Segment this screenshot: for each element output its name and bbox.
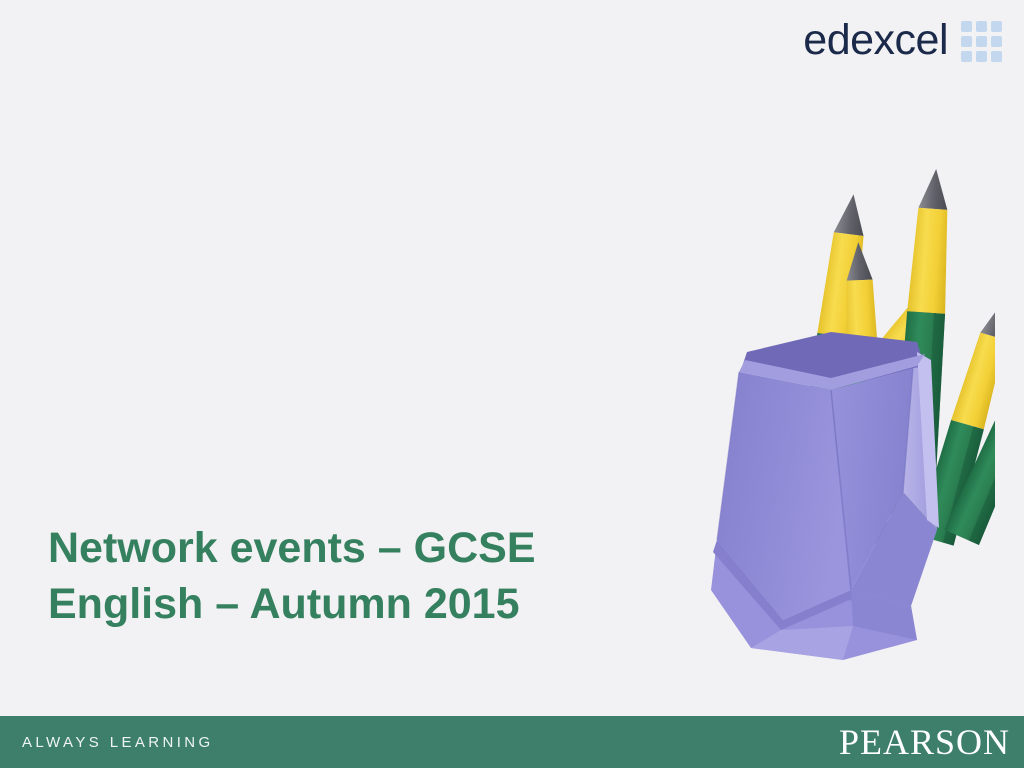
edexcel-logo: edexcel	[803, 18, 1002, 62]
always-learning-tagline: ALWAYS LEARNING	[22, 734, 214, 751]
grid-cell	[976, 21, 987, 32]
pearson-logo: PEARSON	[839, 724, 1010, 760]
grid-cell	[991, 36, 1002, 47]
grid-cell	[976, 51, 987, 62]
grid-cell	[961, 51, 972, 62]
grid-cell	[961, 21, 972, 32]
grid-cell	[991, 21, 1002, 32]
page-title: Network events – GCSE English – Autumn 2…	[48, 521, 668, 633]
grid-cell	[991, 51, 1002, 62]
footer-band: ALWAYS LEARNING PEARSON	[0, 716, 1024, 768]
grid-cell	[976, 36, 987, 47]
origami-pencil-pot-photo	[655, 120, 995, 660]
edexcel-wordmark: edexcel	[803, 19, 948, 62]
edexcel-grid-icon	[961, 21, 1002, 62]
pencil-pot-illustration	[655, 120, 995, 660]
origami-pot	[711, 332, 939, 660]
slide-canvas: edexcel	[0, 0, 1024, 768]
grid-cell	[961, 36, 972, 47]
